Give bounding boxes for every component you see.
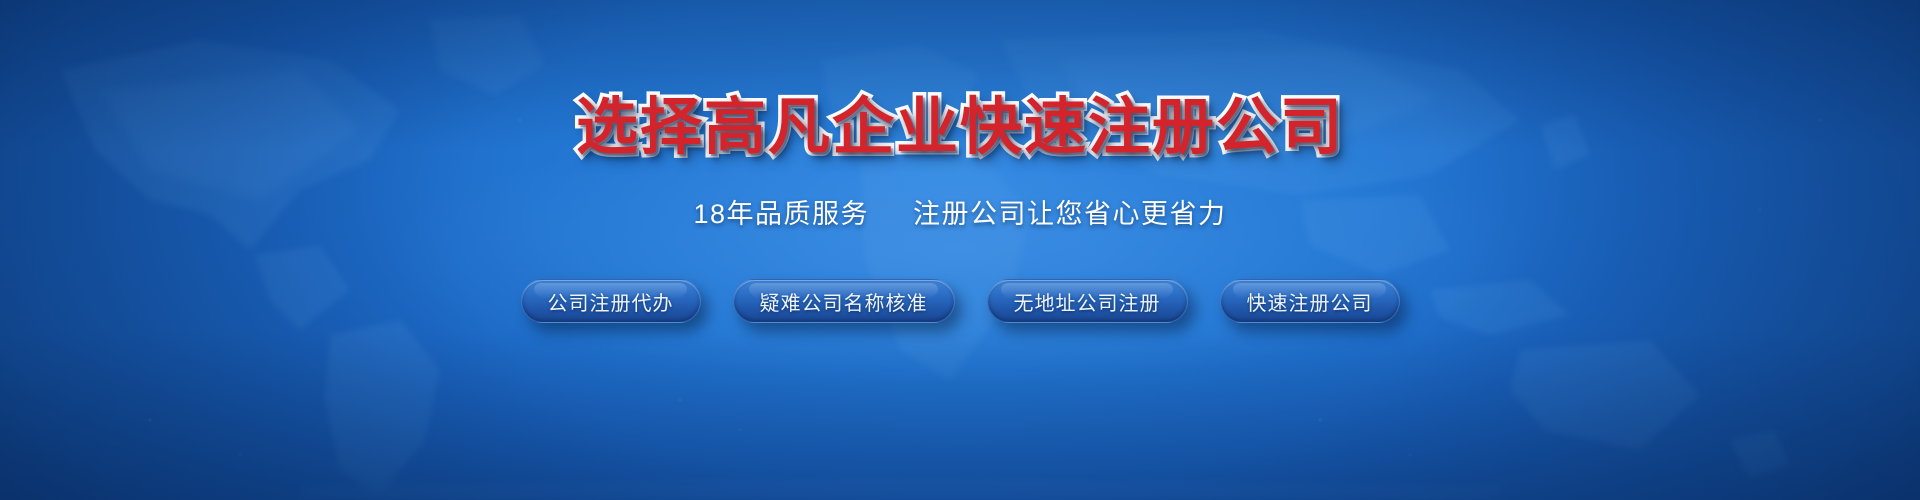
pill-button-fast-company-registration[interactable]: 快速注册公司	[1220, 279, 1400, 323]
banner-subtitle: 18年品质服务 注册公司让您省心更省力	[693, 192, 1226, 231]
pill-button-company-registration-agency[interactable]: 公司注册代办	[521, 279, 701, 323]
pill-button-no-address-registration[interactable]: 无地址公司注册	[987, 279, 1188, 323]
banner-content: 选择高凡企业快速注册公司 18年品质服务 注册公司让您省心更省力 公司注册代办 …	[0, 0, 1920, 500]
service-pill-row: 公司注册代办 疑难公司名称核准 无地址公司注册 快速注册公司	[521, 279, 1400, 323]
pill-button-difficult-name-approval[interactable]: 疑难公司名称核准	[733, 279, 955, 323]
hero-banner: 选择高凡企业快速注册公司 18年品质服务 注册公司让您省心更省力 公司注册代办 …	[0, 0, 1920, 500]
subtitle-right: 注册公司让您省心更省力	[913, 199, 1227, 229]
subtitle-left: 18年品质服务	[693, 199, 869, 229]
banner-headline: 选择高凡企业快速注册公司	[576, 96, 1344, 158]
